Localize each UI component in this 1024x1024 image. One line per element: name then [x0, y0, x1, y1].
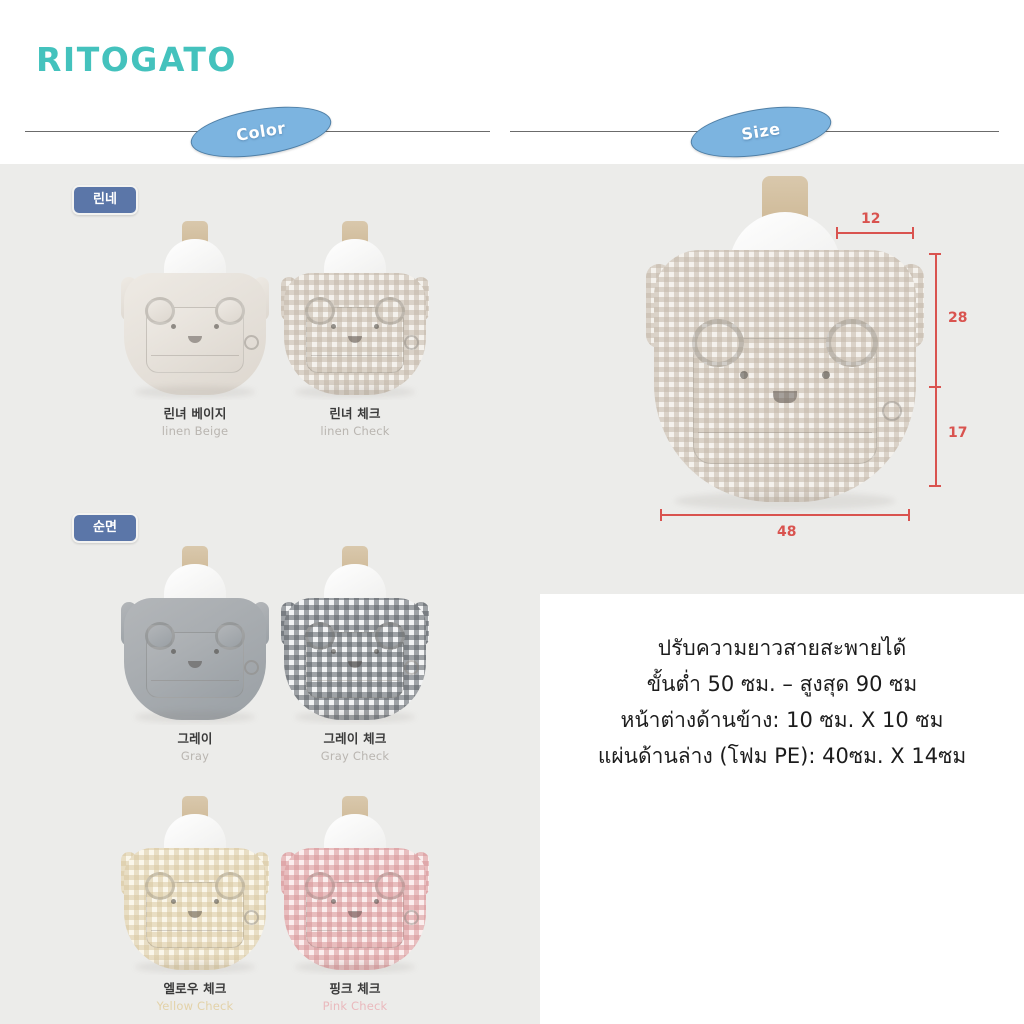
swatch-name-kr: 그레이 체크 — [275, 731, 435, 748]
bear-eye-left-icon — [331, 649, 336, 654]
bear-ear-left-icon — [305, 872, 335, 900]
product-photo-linen-check — [275, 215, 435, 400]
product-photo-gray-check — [275, 540, 435, 725]
dim-cap-top-right — [912, 227, 914, 239]
carrier-body — [654, 250, 916, 502]
bear-ear-right-icon — [215, 872, 245, 900]
dim-cap-vert-top — [929, 253, 941, 255]
clasp-ring-icon — [404, 335, 419, 350]
bear-ear-left-icon — [145, 622, 175, 650]
bear-nose-icon — [348, 911, 362, 918]
drop-shadow — [295, 961, 415, 973]
bear-ear-left-icon — [145, 872, 175, 900]
bear-ear-right-icon — [375, 872, 405, 900]
spec-text-block: ปรับความยาวสายสะพายได้ ขั้นต่ำ 50 ซม. – … — [540, 630, 1024, 774]
bear-eye-right-icon — [214, 899, 219, 904]
swatch-labels: 그레이 Gray — [115, 731, 275, 764]
carrier-body — [284, 273, 426, 395]
dim-label-upper-height: 28 — [948, 310, 967, 326]
bear-eye-left-icon — [331, 324, 336, 329]
carrier-body — [124, 598, 266, 720]
carrier-body — [284, 598, 426, 720]
swatch-labels: 핑크 체크 Pink Check — [275, 981, 435, 1014]
bear-nose-icon — [348, 336, 362, 343]
dim-label-bottom-width: 48 — [777, 524, 796, 540]
drop-shadow — [135, 961, 255, 973]
color-swatch-linen-check[interactable]: 린녀 체크 linen Check — [275, 215, 435, 439]
carrier-body — [284, 848, 426, 970]
pocket-seam — [311, 355, 399, 356]
swatch-name-kr: 엘로우 체크 — [115, 981, 275, 998]
category-badge-cotton-label: 순면 — [74, 515, 136, 541]
drop-shadow — [675, 492, 895, 510]
clasp-ring-icon — [244, 910, 259, 925]
color-swatch-gray-check[interactable]: 그레이 체크 Gray Check — [275, 540, 435, 764]
dim-label-top-width: 12 — [861, 211, 880, 227]
pocket-seam — [311, 930, 399, 931]
product-photo-linen-beige — [115, 215, 275, 400]
bear-eye-right-icon — [214, 649, 219, 654]
color-swatch-pink-check[interactable]: 핑크 체크 Pink Check — [275, 790, 435, 1014]
pocket-seam — [311, 680, 399, 681]
swatch-labels: 그레이 체크 Gray Check — [275, 731, 435, 764]
bear-face-pocket — [306, 307, 404, 373]
bear-ear-right-icon — [826, 319, 878, 367]
product-photo-gray — [115, 540, 275, 725]
bear-eye-left-icon — [331, 899, 336, 904]
bear-nose-icon — [348, 661, 362, 668]
bear-nose-icon — [188, 911, 202, 918]
swatch-name-en: Gray — [115, 748, 275, 764]
swatch-labels: 엘로우 체크 Yellow Check — [115, 981, 275, 1014]
bear-eye-right-icon — [374, 899, 379, 904]
spec-line-4: แผ่นด้านล่าง (โฟม PE): 40ซม. X 14ซม — [540, 738, 1024, 774]
bear-face-pocket — [306, 632, 404, 698]
clasp-ring-icon — [882, 401, 902, 421]
bear-eye-left-icon — [171, 899, 176, 904]
dim-rule-bottom-width — [660, 514, 910, 516]
clasp-ring-icon — [404, 660, 419, 675]
product-infographic: RITOGATO Color Size 린네 순면 — [0, 0, 1024, 1024]
swatch-name-en: Yellow Check — [115, 998, 275, 1014]
bear-eye-right-icon — [374, 324, 379, 329]
bear-nose-icon — [773, 391, 797, 403]
dim-cap-bottom-left — [660, 509, 662, 521]
swatch-labels: 린녀 체크 linen Check — [275, 406, 435, 439]
bear-ear-right-icon — [375, 297, 405, 325]
bear-face-pocket — [146, 307, 244, 373]
drop-shadow — [295, 711, 415, 723]
bear-ear-right-icon — [375, 622, 405, 650]
bear-eye-right-icon — [374, 649, 379, 654]
bear-face-pocket — [693, 338, 877, 464]
bear-ear-right-icon — [215, 297, 245, 325]
swatch-name-en: Gray Check — [275, 748, 435, 764]
category-badge-cotton: 순면 — [72, 513, 138, 543]
dim-cap-vert-bottom — [929, 485, 941, 487]
swatch-labels: 린녀 베이지 linen Beige — [115, 406, 275, 439]
dim-cap-top-left — [836, 227, 838, 239]
bear-ear-left-icon — [145, 297, 175, 325]
carrier-body — [124, 273, 266, 395]
color-swatch-gray[interactable]: 그레이 Gray — [115, 540, 275, 764]
bear-ear-right-icon — [215, 622, 245, 650]
category-badge-linen-label: 린네 — [74, 187, 136, 213]
bear-face-pocket — [146, 882, 244, 948]
bear-face-pocket — [306, 882, 404, 948]
bear-eye-left-icon — [171, 324, 176, 329]
pocket-seam — [151, 680, 239, 681]
color-swatch-yellow-check[interactable]: 엘로우 체크 Yellow Check — [115, 790, 275, 1014]
carrier-body — [124, 848, 266, 970]
dim-cap-vert-mid — [929, 386, 941, 388]
spec-line-3: หน้าต่างด้านข้าง: 10 ซม. X 10 ซม — [540, 702, 1024, 738]
dim-label-lower-height: 17 — [948, 425, 967, 441]
swatch-name-kr: 린녀 체크 — [275, 406, 435, 423]
product-photo-pink-check — [275, 790, 435, 975]
bear-nose-icon — [188, 336, 202, 343]
drop-shadow — [295, 386, 415, 398]
spec-line-1: ปรับความยาวสายสะพายได้ — [540, 630, 1024, 666]
pocket-seam — [151, 930, 239, 931]
clasp-ring-icon — [244, 335, 259, 350]
swatch-name-kr: 린녀 베이지 — [115, 406, 275, 423]
size-diagram — [640, 172, 930, 512]
dim-rule-upper-height — [935, 253, 937, 386]
swatch-name-en: linen Check — [275, 423, 435, 439]
dim-rule-top-width — [836, 232, 914, 234]
bear-face-pocket — [146, 632, 244, 698]
pocket-seam — [698, 432, 872, 433]
swatch-name-en: Pink Check — [275, 998, 435, 1014]
bear-eye-left-icon — [171, 649, 176, 654]
section-badge-size: Size — [687, 98, 834, 166]
bear-nose-icon — [188, 661, 202, 668]
bear-ear-left-icon — [305, 622, 335, 650]
bear-ear-left-icon — [305, 297, 335, 325]
section-badge-color: Color — [187, 98, 334, 166]
swatch-name-kr: 그레이 — [115, 731, 275, 748]
section-badge-color-label: Color — [188, 99, 333, 164]
bear-eye-right-icon — [214, 324, 219, 329]
brand-logo: RITOGATO — [36, 40, 237, 79]
spec-line-2: ขั้นต่ำ 50 ซม. – สูงสุด 90 ซม — [540, 666, 1024, 702]
clasp-ring-icon — [404, 910, 419, 925]
product-photo-yellow-check — [115, 790, 275, 975]
clasp-ring-icon — [244, 660, 259, 675]
drop-shadow — [135, 711, 255, 723]
bear-eye-left-icon — [740, 371, 748, 379]
category-badge-linen: 린네 — [72, 185, 138, 215]
bear-ear-left-icon — [692, 319, 744, 367]
swatch-name-kr: 핑크 체크 — [275, 981, 435, 998]
pocket-seam — [151, 355, 239, 356]
swatch-name-en: linen Beige — [115, 423, 275, 439]
section-badge-size-label: Size — [688, 99, 833, 164]
drop-shadow — [135, 386, 255, 398]
bear-eye-right-icon — [822, 371, 830, 379]
color-swatch-linen-beige[interactable]: 린녀 베이지 linen Beige — [115, 215, 275, 439]
dim-cap-bottom-right — [908, 509, 910, 521]
dim-rule-lower-height — [935, 386, 937, 486]
